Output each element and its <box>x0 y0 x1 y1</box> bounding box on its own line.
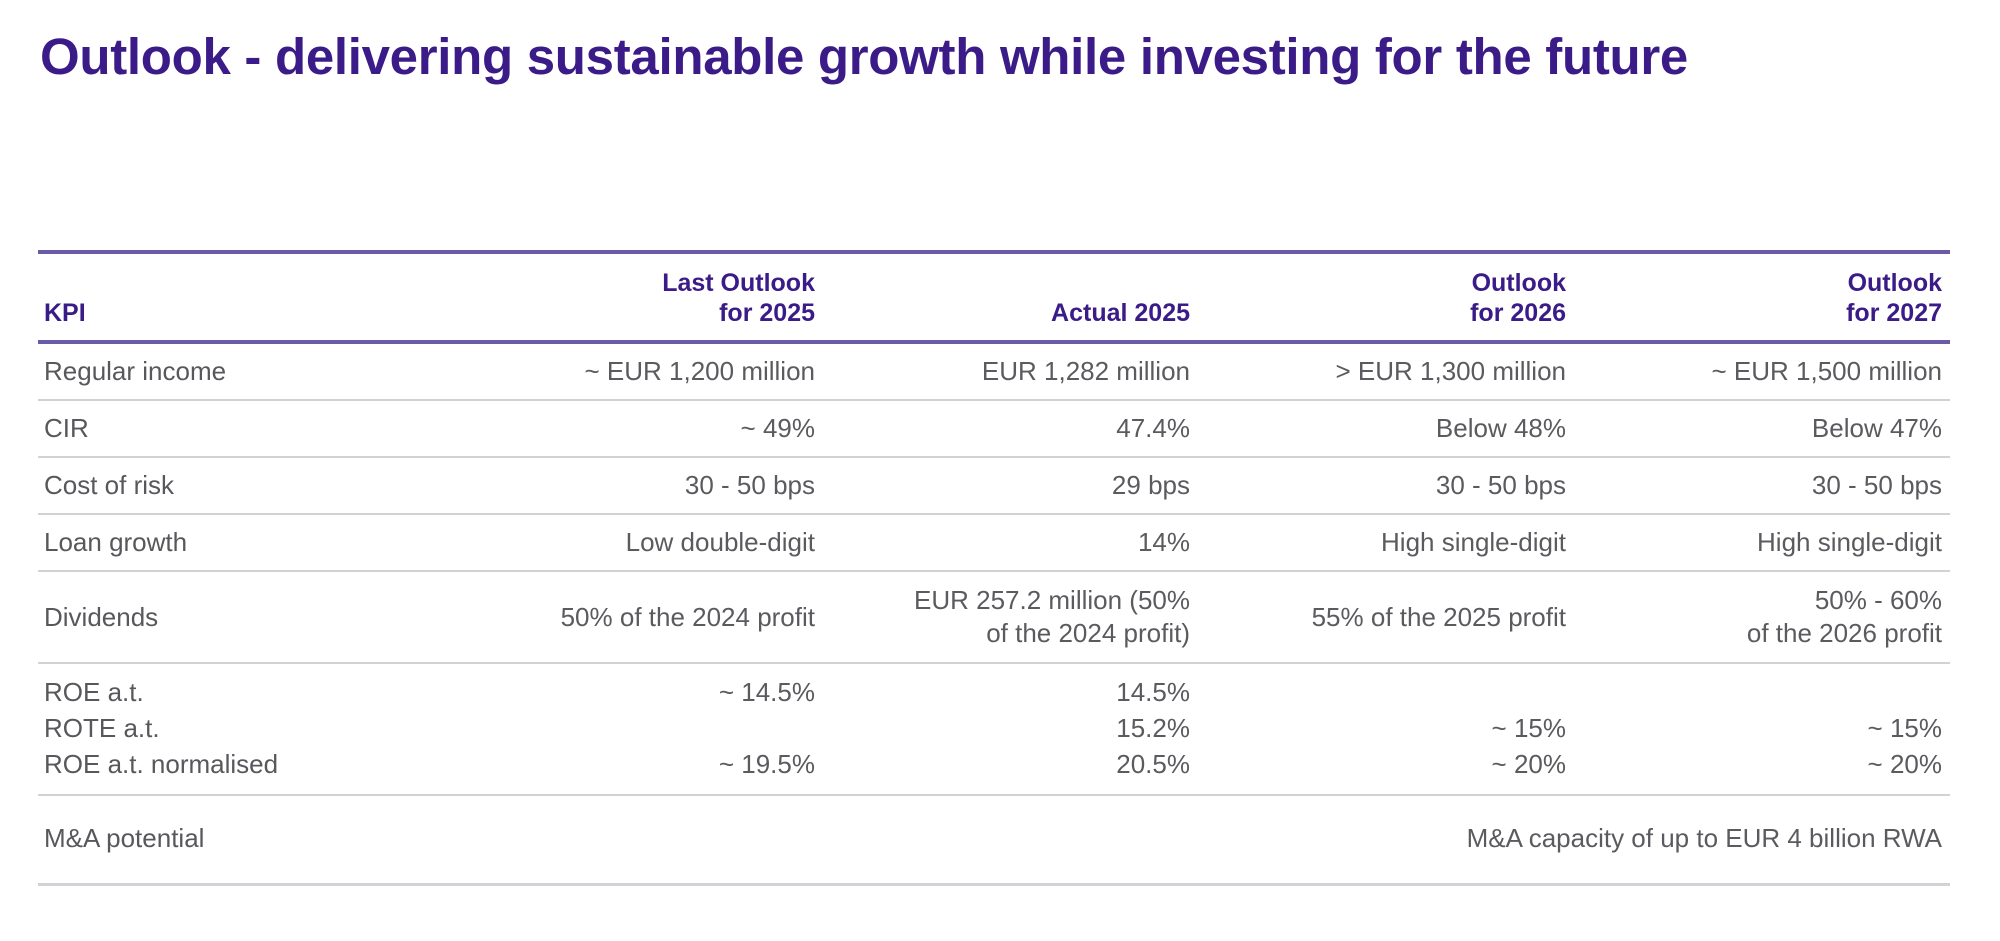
cell-line-roe-normalised: ~ 20% <box>1578 746 1942 782</box>
row-label-rote-at: ROTE a.t. <box>44 710 444 746</box>
header-line-2: for 2025 <box>452 298 815 328</box>
cell-line-2: of the 2024 profit) <box>827 617 1190 650</box>
cell-actual-2025: 14.5% 15.2% 20.5% <box>823 663 1198 795</box>
cell-last-outlook-2025: ~ 49% <box>448 400 823 457</box>
cell-line-rote: ~ 15% <box>1202 710 1566 746</box>
cell-last-outlook-2025: ~ EUR 1,200 million <box>448 342 823 400</box>
slide-root: Outlook - delivering sustainable growth … <box>0 0 2000 941</box>
cell-outlook-2027: 50% - 60% of the 2026 profit <box>1574 571 1950 663</box>
cell-line-roe: ~ 14.5% <box>452 674 815 710</box>
row-label: Dividends <box>38 571 448 663</box>
cell-outlook-2026: High single-digit <box>1198 514 1574 571</box>
cell-last-outlook-2025: 30 - 50 bps <box>448 457 823 514</box>
table-row-dividends: Dividends 50% of the 2024 profit EUR 257… <box>38 571 1950 663</box>
table-row-cost-of-risk: Cost of risk 30 - 50 bps 29 bps 30 - 50 … <box>38 457 1950 514</box>
table-row-loan-growth: Loan growth Low double-digit 14% High si… <box>38 514 1950 571</box>
row-label: Regular income <box>38 342 448 400</box>
table-row-cir: CIR ~ 49% 47.4% Below 48% Below 47% <box>38 400 1950 457</box>
cell-outlook-2026: 30 - 50 bps <box>1198 457 1574 514</box>
row-label-roe-at: ROE a.t. <box>44 674 444 710</box>
cell-mna-capacity: M&A capacity of up to EUR 4 billion RWA <box>448 795 1950 885</box>
row-label: Cost of risk <box>38 457 448 514</box>
table-body: Regular income ~ EUR 1,200 million EUR 1… <box>38 342 1950 885</box>
cell-outlook-2027: ~ EUR 1,500 million <box>1574 342 1950 400</box>
outlook-table: KPI Last Outlook for 2025 Actual 2025 Ou… <box>38 250 1950 886</box>
table-row-mna-potential: M&A potential M&A capacity of up to EUR … <box>38 795 1950 885</box>
cell-line-roe <box>1202 674 1566 710</box>
cell-outlook-2026: > EUR 1,300 million <box>1198 342 1574 400</box>
cell-line-rote: ~ 15% <box>1578 710 1942 746</box>
cell-actual-2025: 14% <box>823 514 1198 571</box>
header-row: KPI Last Outlook for 2025 Actual 2025 Ou… <box>38 252 1950 342</box>
header-line-2: for 2026 <box>1202 298 1566 328</box>
cell-line-rote <box>452 710 815 746</box>
cell-line-1: EUR 257.2 million (50% <box>827 584 1190 617</box>
kpi-outlook-table: KPI Last Outlook for 2025 Actual 2025 Ou… <box>38 250 1950 886</box>
cell-line-rote: 15.2% <box>827 710 1190 746</box>
header-line-1: Last Outlook <box>452 268 815 298</box>
cell-last-outlook-2025: Low double-digit <box>448 514 823 571</box>
cell-line-roe: 14.5% <box>827 674 1190 710</box>
cell-actual-2025: 47.4% <box>823 400 1198 457</box>
cell-outlook-2027: ~ 15% ~ 20% <box>1574 663 1950 795</box>
cell-line-roe-normalised: ~ 20% <box>1202 746 1566 782</box>
header-line-1: Outlook <box>1578 268 1942 298</box>
cell-line-1: 50% - 60% <box>1578 584 1942 617</box>
row-label: M&A potential <box>38 795 448 885</box>
column-header-kpi: KPI <box>38 252 448 342</box>
cell-last-outlook-2025: ~ 14.5% ~ 19.5% <box>448 663 823 795</box>
cell-line-roe-normalised: 20.5% <box>827 746 1190 782</box>
table-row-roe-block: ROE a.t. ROTE a.t. ROE a.t. normalised ~… <box>38 663 1950 795</box>
row-label-roe-at-normalised: ROE a.t. normalised <box>44 746 444 782</box>
row-label: Loan growth <box>38 514 448 571</box>
cell-outlook-2027: Below 47% <box>1574 400 1950 457</box>
column-header-actual-2025: Actual 2025 <box>823 252 1198 342</box>
cell-line-roe-normalised: ~ 19.5% <box>452 746 815 782</box>
cell-outlook-2026: ~ 15% ~ 20% <box>1198 663 1574 795</box>
header-line-2: for 2027 <box>1578 298 1942 328</box>
cell-last-outlook-2025: 50% of the 2024 profit <box>448 571 823 663</box>
table-header: KPI Last Outlook for 2025 Actual 2025 Ou… <box>38 252 1950 342</box>
cell-line-2: of the 2026 profit <box>1578 617 1942 650</box>
cell-actual-2025: EUR 257.2 million (50% of the 2024 profi… <box>823 571 1198 663</box>
cell-actual-2025: 29 bps <box>823 457 1198 514</box>
table-row-regular-income: Regular income ~ EUR 1,200 million EUR 1… <box>38 342 1950 400</box>
header-line-1: Outlook <box>1202 268 1566 298</box>
cell-outlook-2027: High single-digit <box>1574 514 1950 571</box>
header-line-1: Actual 2025 <box>827 298 1190 328</box>
cell-actual-2025: EUR 1,282 million <box>823 342 1198 400</box>
cell-outlook-2026: 55% of the 2025 profit <box>1198 571 1574 663</box>
column-header-outlook-2026: Outlook for 2026 <box>1198 252 1574 342</box>
row-label: CIR <box>38 400 448 457</box>
page-title: Outlook - delivering sustainable growth … <box>40 26 1980 88</box>
cell-outlook-2027: 30 - 50 bps <box>1574 457 1950 514</box>
column-header-outlook-2027: Outlook for 2027 <box>1574 252 1950 342</box>
row-label-group: ROE a.t. ROTE a.t. ROE a.t. normalised <box>38 663 448 795</box>
cell-line-roe <box>1578 674 1942 710</box>
column-header-last-outlook-2025: Last Outlook for 2025 <box>448 252 823 342</box>
cell-outlook-2026: Below 48% <box>1198 400 1574 457</box>
